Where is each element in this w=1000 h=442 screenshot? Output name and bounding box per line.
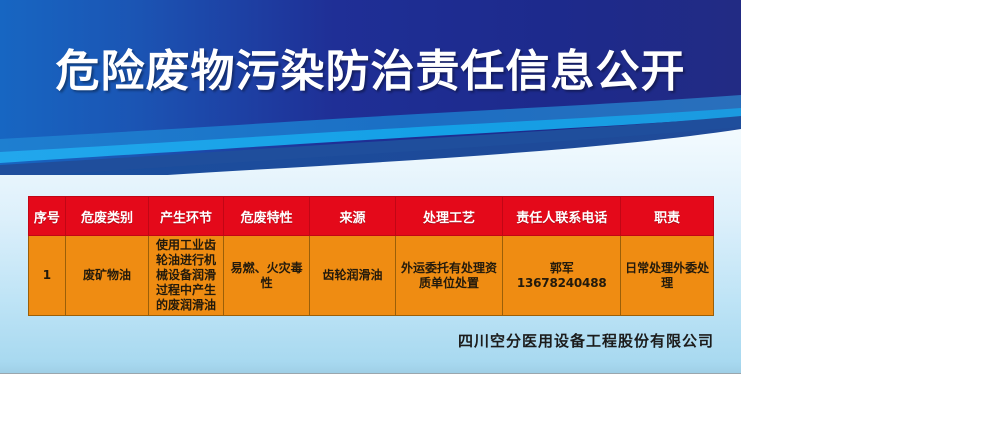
column-header-no: 序号 [29, 197, 66, 236]
cell-category: 废矿物油 [65, 236, 148, 316]
column-header-source: 来源 [310, 197, 395, 236]
column-header-contact: 责任人联系电话 [503, 197, 621, 236]
column-header-process: 处理工艺 [395, 197, 502, 236]
column-header-duty: 职责 [621, 197, 714, 236]
hazardous-waste-poster: 危险废物污染防治责任信息公开 序号 危废类别 产生环节 危废特性 来源 处理工艺… [0, 0, 741, 373]
column-header-property: 危废特性 [223, 197, 309, 236]
table-header-row: 序号 危废类别 产生环节 危废特性 来源 处理工艺 责任人联系电话 职责 [29, 197, 714, 236]
table-row: 1 废矿物油 使用工业齿轮油进行机械设备润滑过程中产生的废润滑油 易燃、火灾毒性… [29, 236, 714, 316]
page-title: 危险废物污染防治责任信息公开 [0, 46, 741, 98]
cell-source: 齿轮润滑油 [310, 236, 395, 316]
cell-no: 1 [29, 236, 66, 316]
column-header-stage: 产生环节 [149, 197, 224, 236]
contact-name: 郭军 [506, 261, 617, 276]
cell-process: 外运委托有处理资质单位处置 [395, 236, 502, 316]
cell-duty: 日常处理外委处理 [621, 236, 714, 316]
cell-contact: 郭军 13678240488 [503, 236, 621, 316]
hazardous-waste-table: 序号 危废类别 产生环节 危废特性 来源 处理工艺 责任人联系电话 职责 1 废… [28, 196, 714, 316]
poster-banner: 危险废物污染防治责任信息公开 [0, 0, 741, 175]
cell-stage: 使用工业齿轮油进行机械设备润滑过程中产生的废润滑油 [149, 236, 224, 316]
contact-phone: 13678240488 [506, 276, 617, 291]
column-header-category: 危废类别 [65, 197, 148, 236]
company-name: 四川空分医用设备工程股份有限公司 [0, 330, 714, 351]
cell-property: 易燃、火灾毒性 [223, 236, 309, 316]
